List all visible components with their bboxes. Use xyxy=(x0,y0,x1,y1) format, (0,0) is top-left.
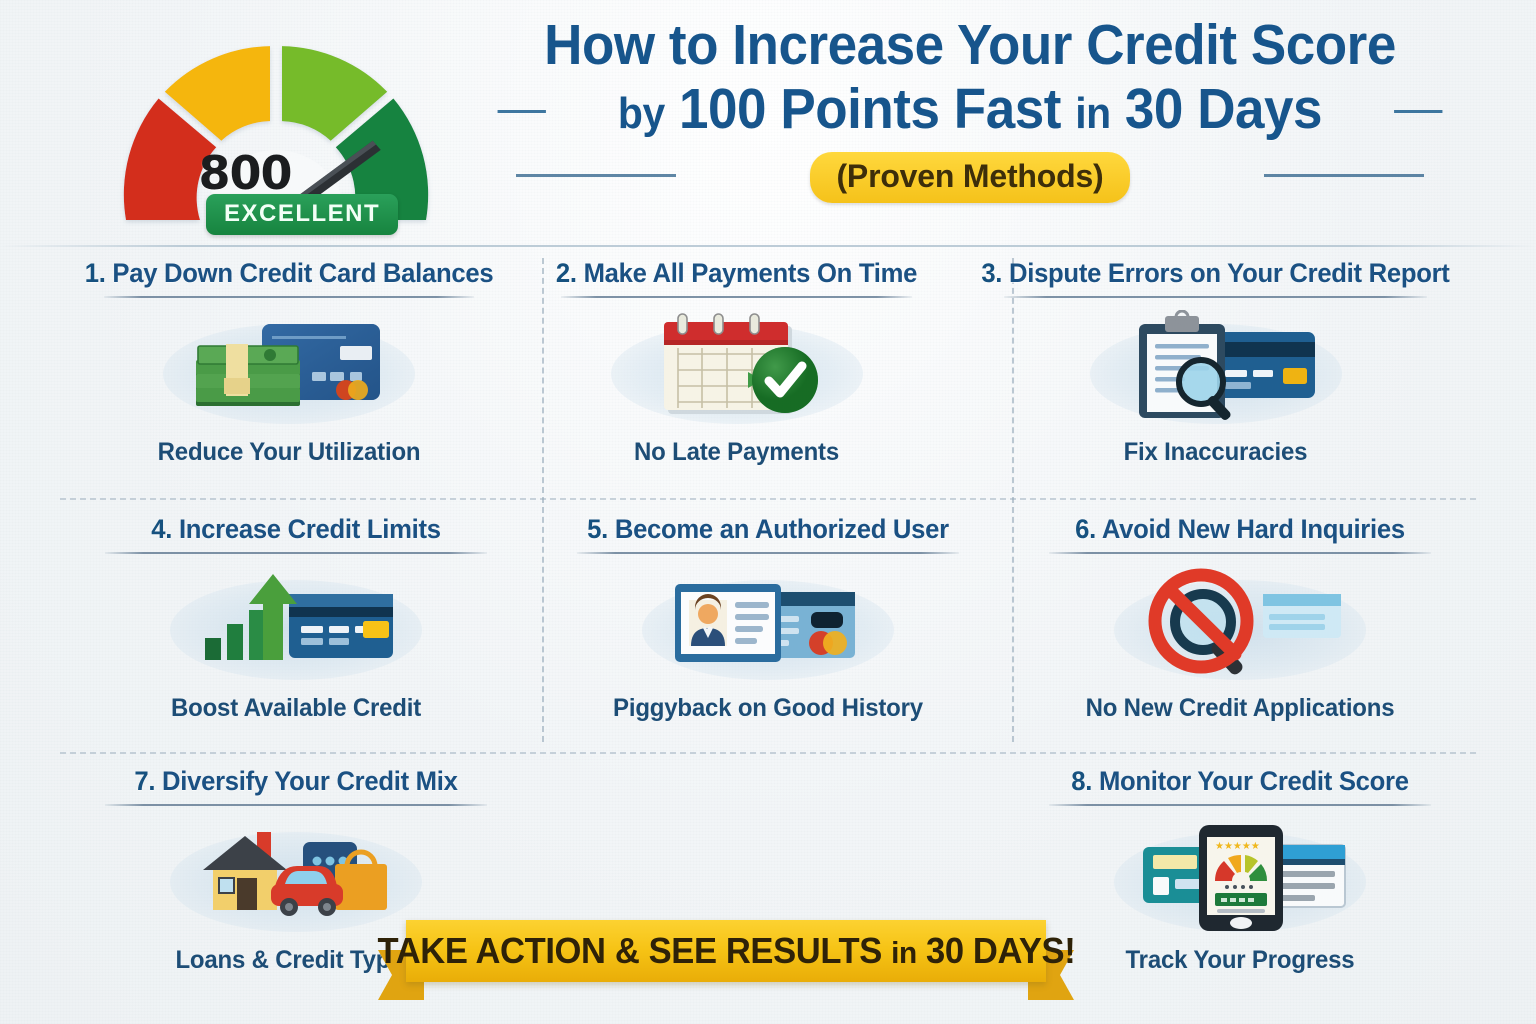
step-8-title-text: Monitor Your Credit Score xyxy=(1099,766,1409,796)
steps-row-1: 1. Pay Down Credit Card Balances xyxy=(60,258,1476,494)
step-3-artwork xyxy=(969,304,1462,436)
credit-score-gauge: 800 EXCELLENT xyxy=(100,28,452,228)
step-7-number: 7. xyxy=(134,766,155,796)
infographic-page: 800 EXCELLENT How to Increase Your Credi… xyxy=(0,0,1536,1024)
banner-text-b: in xyxy=(891,935,917,970)
step-2-subtitle: No Late Payments xyxy=(540,438,933,467)
page-title-line1: How to Increase Your Credit Score xyxy=(505,16,1435,74)
no-magnifier-prohibition-icon xyxy=(1125,566,1355,686)
cash-stack-and-credit-card-icon xyxy=(174,310,404,430)
subtitle-row: (Proven Methods) xyxy=(470,152,1470,196)
gauge-score-value: 800 xyxy=(100,146,390,200)
step-1-title-text: Pay Down Credit Card Balances xyxy=(112,258,493,288)
step-card-4[interactable]: 4. Increase Credit Limits xyxy=(60,514,532,746)
step-8-title: 8. Monitor Your Credit Score xyxy=(1029,766,1451,797)
step-3-subtitle: Fix Inaccuracies xyxy=(979,438,1452,467)
step-4-underline xyxy=(105,552,487,554)
gauge-rating-badge: EXCELLENT xyxy=(206,194,398,235)
step-8-number: 8. xyxy=(1071,766,1092,796)
steps-row-2: 4. Increase Credit Limits xyxy=(60,514,1476,746)
step-6-title-text: Avoid New Hard Inquiries xyxy=(1102,514,1405,544)
title-word-days: 30 Days xyxy=(1125,77,1322,141)
phone-score-dashboard-icon: ★★★★★ xyxy=(1125,819,1355,937)
house-car-card-bag-icon xyxy=(179,820,413,936)
step-1-underline xyxy=(104,296,474,298)
step-5-title-text: Become an Authorized User xyxy=(615,514,949,544)
step-3-number: 3. xyxy=(981,258,1002,288)
step-card-2[interactable]: 2. Make All Payments On Time xyxy=(518,258,955,494)
step-8-artwork: ★★★★★ xyxy=(1018,812,1462,944)
step-6-number: 6. xyxy=(1075,514,1096,544)
step-2-number: 2. xyxy=(556,258,577,288)
step-7-title: 7. Diversify Your Credit Mix xyxy=(85,766,507,797)
step-3-title-text: Dispute Errors on Your Credit Report xyxy=(1009,258,1450,288)
step-1-artwork xyxy=(74,304,504,436)
step-6-subtitle: No New Credit Applications xyxy=(1027,694,1453,723)
step-4-title: 4. Increase Credit Limits xyxy=(85,514,507,545)
calendar-with-green-check-icon xyxy=(622,310,852,430)
step-4-title-text: Increase Credit Limits xyxy=(179,514,441,544)
step-8-underline xyxy=(1049,804,1431,806)
title-block: How to Increase Your Credit Score by 100… xyxy=(470,16,1470,196)
title-rule-left xyxy=(498,110,546,113)
step-5-underline xyxy=(577,552,959,554)
step-1-title: 1. Pay Down Credit Card Balances xyxy=(85,258,494,289)
step-6-artwork xyxy=(1018,560,1462,692)
header-divider xyxy=(0,245,1536,247)
step-2-artwork xyxy=(532,304,941,436)
step-1-number: 1. xyxy=(85,258,106,288)
step-3-title: 3. Dispute Errors on Your Credit Report xyxy=(981,258,1449,289)
step-7-underline xyxy=(105,804,487,806)
title-word-in: in xyxy=(1075,89,1110,138)
step-5-subtitle: Piggyback on Good History xyxy=(555,694,981,723)
banner-text-c: 30 DAYS! xyxy=(926,930,1075,971)
header-section: 800 EXCELLENT How to Increase Your Credi… xyxy=(0,0,1536,246)
step-3-underline xyxy=(1004,296,1428,298)
step-4-subtitle: Boost Available Credit xyxy=(83,694,509,723)
step-6-title: 6. Avoid New Hard Inquiries xyxy=(1029,514,1451,545)
step-5-artwork xyxy=(546,560,990,692)
id-card-and-credit-card-icon xyxy=(653,566,883,686)
step-card-1[interactable]: 1. Pay Down Credit Card Balances xyxy=(60,258,518,494)
step-6-underline xyxy=(1049,552,1431,554)
banner-text: TAKE ACTION & SEE RESULTS in 30 DAYS! xyxy=(377,930,1075,972)
growth-bars-arrow-card-icon xyxy=(181,566,411,686)
step-2-title-text: Make All Payments On Time xyxy=(584,258,918,288)
page-title-line2: by 100 Points Fast in 30 Days xyxy=(505,80,1435,138)
step-5-title: 5. Become an Authorized User xyxy=(557,514,979,545)
step-card-6[interactable]: 6. Avoid New Hard Inquiries xyxy=(1004,514,1476,746)
svg-text:★★★★★: ★★★★★ xyxy=(1215,841,1260,852)
step-4-number: 4. xyxy=(151,514,172,544)
row-divider-2 xyxy=(60,752,1476,754)
step-2-underline xyxy=(561,296,913,298)
subtitle-rule-left xyxy=(516,174,676,177)
clipboard-magnifier-card-icon xyxy=(1101,310,1331,430)
step-card-3[interactable]: 3. Dispute Errors on Your Credit Report xyxy=(955,258,1476,494)
subtitle-rule-right xyxy=(1264,174,1424,177)
step-1-subtitle: Reduce Your Utilization xyxy=(83,438,496,467)
step-8-subtitle: Track Your Progress xyxy=(1027,946,1453,975)
step-7-title-text: Diversify Your Credit Mix xyxy=(162,766,458,796)
title-rule-right xyxy=(1394,110,1442,113)
banner-text-a: TAKE ACTION & SEE RESULTS xyxy=(377,930,881,971)
steps-grid: 1. Pay Down Credit Card Balances xyxy=(60,258,1476,958)
title-word-by: by xyxy=(618,89,665,138)
step-4-artwork xyxy=(74,560,518,692)
step-card-5[interactable]: 5. Become an Authorized User xyxy=(532,514,1004,746)
row-divider-1 xyxy=(60,498,1476,500)
ribbon-body: TAKE ACTION & SEE RESULTS in 30 DAYS! xyxy=(406,920,1046,982)
title-word-points: 100 Points Fast xyxy=(679,77,1061,141)
call-to-action-banner[interactable]: TAKE ACTION & SEE RESULTS in 30 DAYS! xyxy=(378,920,1074,1002)
subtitle-pill: (Proven Methods) xyxy=(810,152,1129,203)
step-5-number: 5. xyxy=(587,514,608,544)
step-2-title: 2. Make All Payments On Time xyxy=(542,258,931,289)
